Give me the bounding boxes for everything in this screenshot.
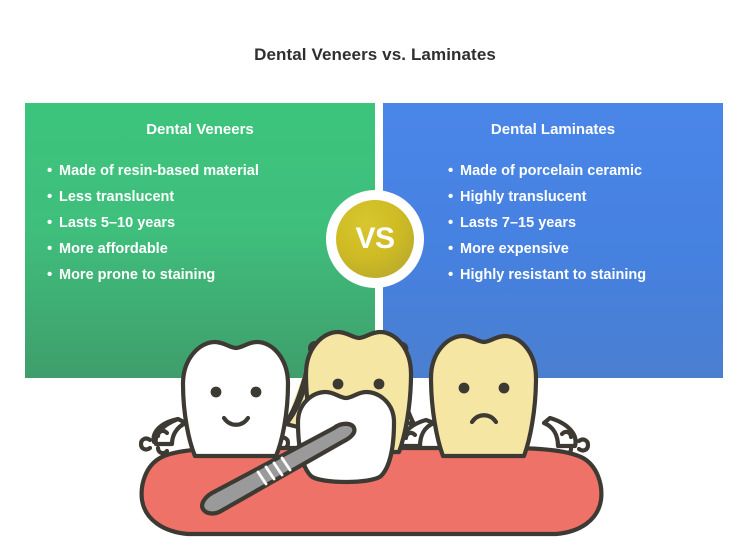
list-item-label: Lasts 5–10 years — [59, 210, 175, 236]
list-item: • Highly translucent — [383, 184, 723, 210]
bullet-dot-icon: • — [47, 262, 59, 288]
list-item: • More expensive — [383, 236, 723, 262]
tooth-white-happy — [183, 342, 288, 456]
list-item: • More prone to staining — [25, 262, 375, 288]
bullet-dot-icon: • — [47, 210, 59, 236]
panel-title-right: Dental Laminates — [383, 121, 723, 138]
page-title: Dental Veneers vs. Laminates — [0, 45, 750, 65]
bullet-list-right: • Made of porcelain ceramic • Highly tra… — [383, 158, 723, 288]
vs-badge: VS — [326, 190, 424, 288]
bullet-dot-icon: • — [448, 210, 460, 236]
list-item-label: Highly translucent — [460, 184, 587, 210]
bullet-dot-icon: • — [47, 158, 59, 184]
list-item-label: Made of porcelain ceramic — [460, 158, 642, 184]
list-item: • Lasts 7–15 years — [383, 210, 723, 236]
list-item-label: More expensive — [460, 236, 569, 262]
list-item: • Made of porcelain ceramic — [383, 158, 723, 184]
list-item-label: Highly resistant to staining — [460, 262, 646, 288]
list-item: • Highly resistant to staining — [383, 262, 723, 288]
bullet-dot-icon: • — [448, 184, 460, 210]
vs-badge-label: VS — [355, 224, 394, 254]
bullet-list-left: • Made of resin-based material • Less tr… — [25, 158, 375, 288]
list-item-label: More prone to staining — [59, 262, 215, 288]
bullet-dot-icon: • — [448, 158, 460, 184]
list-item-label: Less translucent — [59, 184, 174, 210]
list-item-label: More affordable — [59, 236, 168, 262]
list-item-label: Made of resin-based material — [59, 158, 259, 184]
vs-badge-circle: VS — [336, 200, 414, 278]
tooth-yellow-sad — [431, 336, 536, 456]
infographic-canvas: Dental Veneers vs. Laminates Dental Vene… — [0, 0, 750, 542]
list-item: • Made of resin-based material — [25, 158, 375, 184]
dental-illustration-svg — [138, 326, 618, 542]
bullet-dot-icon: • — [448, 236, 460, 262]
dental-illustration — [138, 326, 618, 542]
panel-title-left: Dental Veneers — [25, 121, 375, 138]
list-item: • Less translucent — [25, 184, 375, 210]
list-item-label: Lasts 7–15 years — [460, 210, 576, 236]
bullet-dot-icon: • — [448, 262, 460, 288]
list-item: • More affordable — [25, 236, 375, 262]
bullet-dot-icon: • — [47, 236, 59, 262]
tooth-arm — [141, 419, 186, 453]
bullet-dot-icon: • — [47, 184, 59, 210]
list-item: • Lasts 5–10 years — [25, 210, 375, 236]
